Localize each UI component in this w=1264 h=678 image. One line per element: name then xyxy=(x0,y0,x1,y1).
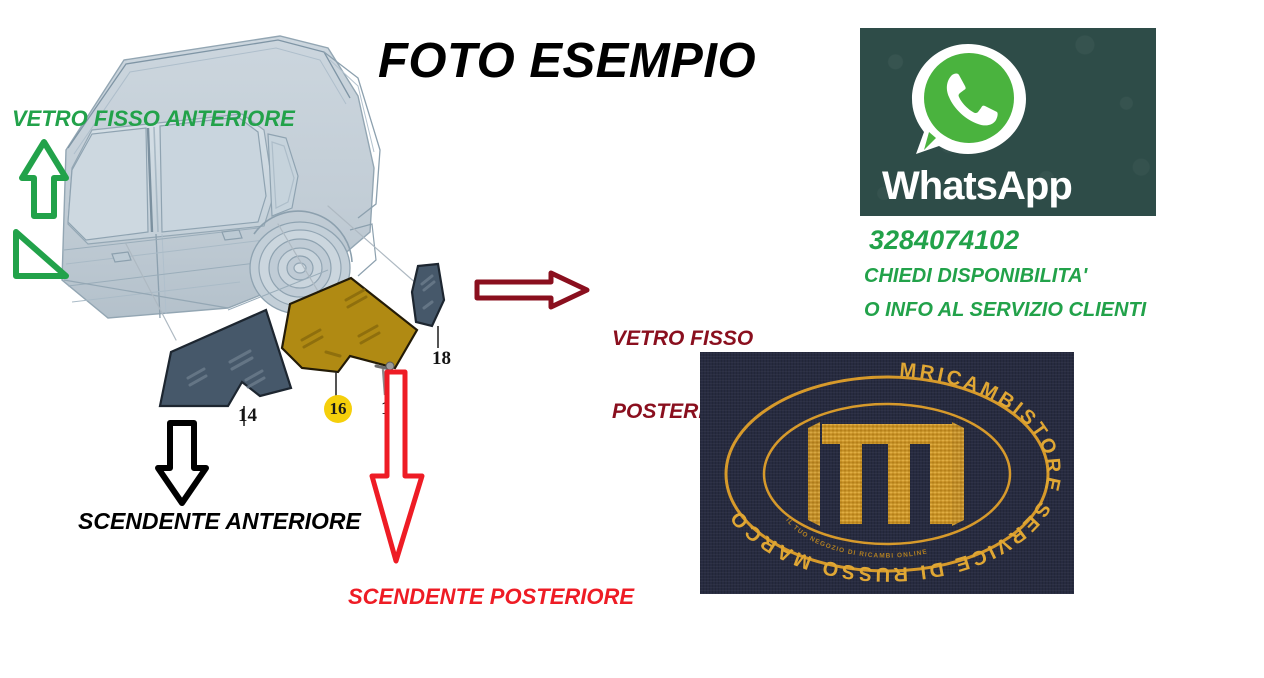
label-scendente-posteriore: SCENDENTE POSTERIORE xyxy=(348,584,634,609)
label-vetro-fisso-posteriore-line1: VETRO FISSO xyxy=(612,327,753,351)
glass-14-front-drop xyxy=(160,310,291,406)
label-scendente-anteriore: SCENDENTE ANTERIORE xyxy=(78,508,361,534)
whatsapp-icon xyxy=(906,38,1036,162)
whatsapp-banner: WhatsApp xyxy=(860,28,1156,216)
part-number-14: 14 xyxy=(238,405,257,427)
poster-canvas: 14 16 17 18 FOTO ESEMPIO VETRO FISSO ANT… xyxy=(0,0,1264,678)
shop-logo-banner: MRICAMBISTORE SERVICE DI RUSSO MARCO IL … xyxy=(700,352,1074,594)
part-number-18: 18 xyxy=(432,348,451,370)
shop-logo-mark: MRICAMBISTORE SERVICE DI RUSSO MARCO IL … xyxy=(700,352,1074,594)
label-vetro-fisso-anteriore: VETRO FISSO ANTERIORE xyxy=(12,106,295,131)
whatsapp-wordmark: WhatsApp xyxy=(882,164,1072,209)
glass-18-rear-fixed xyxy=(412,264,444,326)
whatsapp-phone-number: 3284074102 xyxy=(869,225,1019,256)
part-number-badge-16: 16 xyxy=(324,395,352,423)
whatsapp-cta-line1: CHIEDI DISPONIBILITA' xyxy=(864,265,1087,288)
shop-logo-monogram xyxy=(808,422,964,526)
page-title: FOTO ESEMPIO xyxy=(378,33,756,89)
right-arrow-darkred-icon xyxy=(473,269,591,311)
glass-16-rear-drop xyxy=(282,278,417,372)
down-arrow-black-icon xyxy=(152,418,214,508)
whatsapp-cta-line2: O INFO AL SERVIZIO CLIENTI xyxy=(864,299,1146,322)
down-arrow-red-icon xyxy=(364,368,432,568)
triangle-green-icon xyxy=(16,232,66,276)
up-arrow-green-icon xyxy=(10,136,72,281)
